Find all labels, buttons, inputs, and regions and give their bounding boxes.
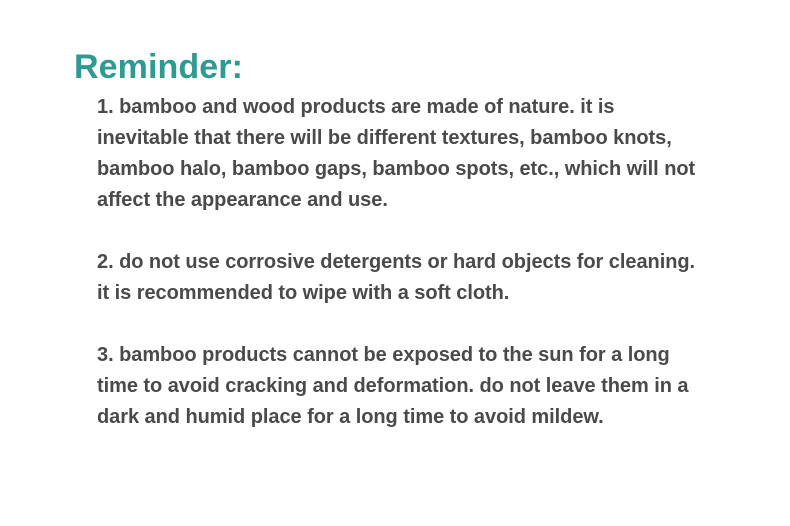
list-item: 1. bamboo and wood products are made of … — [97, 92, 705, 216]
list-item: 2. do not use corrosive detergents or ha… — [97, 247, 705, 309]
reminder-card: Reminder: 1. bamboo and wood products ar… — [0, 0, 790, 526]
reminder-notes-list: 1. bamboo and wood products are made of … — [97, 92, 705, 433]
list-item: 3. bamboo products cannot be exposed to … — [97, 340, 705, 433]
page-title: Reminder: — [74, 47, 243, 87]
